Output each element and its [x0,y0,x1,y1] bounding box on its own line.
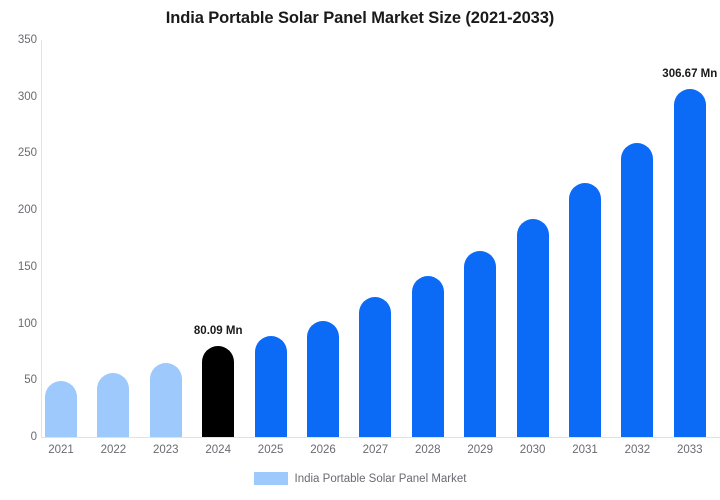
bars-layer [41,40,720,437]
bar-2033[interactable] [674,89,706,437]
y-axis-tick-350: 350 [3,34,37,46]
x-axis-tick-2027: 2027 [363,444,389,456]
bar-2028[interactable] [412,276,444,437]
x-axis-tick-2021: 2021 [48,444,74,456]
x-axis-tick-2029: 2029 [467,444,493,456]
chart-title: India Portable Solar Panel Market Size (… [0,9,720,28]
y-axis-tick-0: 0 [3,431,37,443]
x-axis-tick-2030: 2030 [520,444,546,456]
x-axis-tick-2031: 2031 [572,444,598,456]
y-axis-tick-200: 200 [3,204,37,216]
bar-2031[interactable] [569,183,601,437]
x-axis-tick-2028: 2028 [415,444,441,456]
bar-2022[interactable] [97,373,129,437]
bar-2030[interactable] [517,219,549,437]
chart-container: India Portable Solar Panel Market Size (… [0,0,720,500]
bar-2025[interactable] [255,336,287,437]
y-axis-tick-250: 250 [3,147,37,159]
y-axis: 050100150200250300350 [0,0,37,500]
bar-2024[interactable] [202,346,234,437]
value-label-2024: 80.09 Mn [194,325,243,337]
x-axis-line [41,437,720,438]
legend-label-india-portable-solar-panel-market: India Portable Solar Panel Market [295,473,467,485]
x-axis-tick-2025: 2025 [258,444,284,456]
x-axis-tick-2022: 2022 [101,444,127,456]
x-axis-tick-2032: 2032 [625,444,651,456]
value-label-2033: 306.67 Mn [662,68,717,80]
y-axis-tick-150: 150 [3,261,37,273]
x-axis-tick-2026: 2026 [310,444,336,456]
bar-2032[interactable] [621,143,653,437]
x-axis-tick-2024: 2024 [205,444,231,456]
y-axis-tick-50: 50 [3,374,37,386]
bar-2021[interactable] [45,381,77,437]
legend-swatch-india-portable-solar-panel-market [254,472,288,485]
bar-2023[interactable] [150,363,182,437]
x-axis-labels: 2021202220232024202520262027202820292030… [41,444,720,464]
bar-2026[interactable] [307,321,339,437]
x-axis-tick-2033: 2033 [677,444,703,456]
bar-2029[interactable] [464,251,496,437]
bar-2027[interactable] [359,297,391,437]
chart-legend: India Portable Solar Panel Market [0,472,720,485]
y-axis-tick-300: 300 [3,91,37,103]
y-axis-tick-100: 100 [3,318,37,330]
x-axis-tick-2023: 2023 [153,444,179,456]
